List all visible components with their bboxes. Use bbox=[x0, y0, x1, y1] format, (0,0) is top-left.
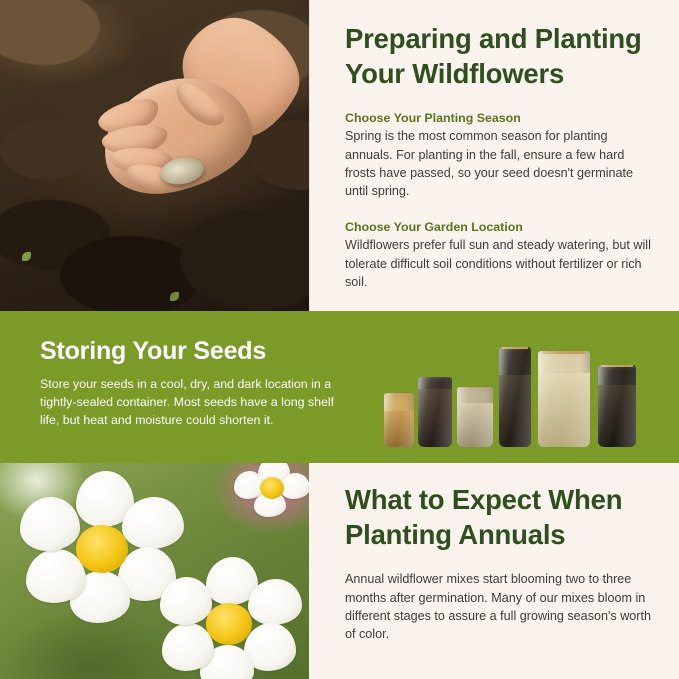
expectations-title: What to Expect When Planting Annuals bbox=[345, 483, 653, 552]
white-cosmos-flowers-photo bbox=[0, 463, 309, 679]
top-text-column: Preparing and Planting Your Wildflowers … bbox=[309, 0, 679, 311]
seed-jar bbox=[457, 387, 493, 447]
section-what-to-expect: What to Expect When Planting Annuals Ann… bbox=[0, 463, 679, 679]
jar-glass-highlight bbox=[598, 365, 636, 447]
body-garden-location: Wildflowers prefer full sun and steady w… bbox=[345, 236, 657, 291]
petal bbox=[280, 473, 309, 499]
body-planting-season: Spring is the most common season for pla… bbox=[345, 127, 657, 200]
jar-glass-highlight bbox=[457, 387, 493, 447]
jar-glass-highlight bbox=[538, 351, 590, 447]
soil-clod bbox=[60, 236, 200, 311]
jar-glass-highlight bbox=[418, 377, 452, 447]
seed-jars-photo bbox=[362, 311, 679, 463]
flower-center bbox=[260, 477, 284, 499]
jar-glass-highlight bbox=[499, 347, 531, 447]
green-text-column: Storing Your Seeds Store your seeds in a… bbox=[0, 311, 362, 463]
seed-jar bbox=[418, 377, 452, 447]
jar-glass-highlight bbox=[384, 393, 414, 447]
section-storing-your-seeds: Storing Your Seeds Store your seeds in a… bbox=[0, 311, 679, 463]
flower-bud bbox=[236, 463, 306, 521]
storing-body: Store your seeds in a cool, dry, and dar… bbox=[40, 376, 342, 430]
petal bbox=[248, 579, 302, 625]
petal bbox=[122, 497, 184, 549]
bottom-text-column: What to Expect When Planting Annuals Ann… bbox=[309, 463, 679, 679]
expectations-body: Annual wildflower mixes start blooming t… bbox=[345, 570, 653, 643]
flower-center bbox=[206, 603, 252, 645]
petal bbox=[20, 497, 80, 551]
vertical-divider bbox=[309, 0, 310, 311]
page-title: Preparing and Planting Your Wildflowers bbox=[345, 22, 657, 91]
seed-jar bbox=[384, 393, 414, 447]
subheading-planting-season: Choose Your Planting Season bbox=[345, 111, 657, 125]
hand-sowing-seeds-photo bbox=[0, 0, 309, 311]
infographic-page: Preparing and Planting Your Wildflowers … bbox=[0, 0, 679, 679]
seed-jar bbox=[538, 351, 590, 447]
soil-clod bbox=[0, 120, 90, 180]
flower-center bbox=[76, 525, 128, 573]
petal bbox=[160, 577, 212, 625]
flower-bloom bbox=[160, 561, 300, 679]
seed-jar bbox=[499, 347, 531, 447]
subheading-garden-location: Choose Your Garden Location bbox=[345, 220, 657, 234]
storing-title: Storing Your Seeds bbox=[40, 337, 342, 366]
hand bbox=[96, 40, 286, 220]
section-preparing-and-planting: Preparing and Planting Your Wildflowers … bbox=[0, 0, 679, 311]
seed-jar bbox=[598, 365, 636, 447]
flower-bloom bbox=[22, 475, 182, 625]
